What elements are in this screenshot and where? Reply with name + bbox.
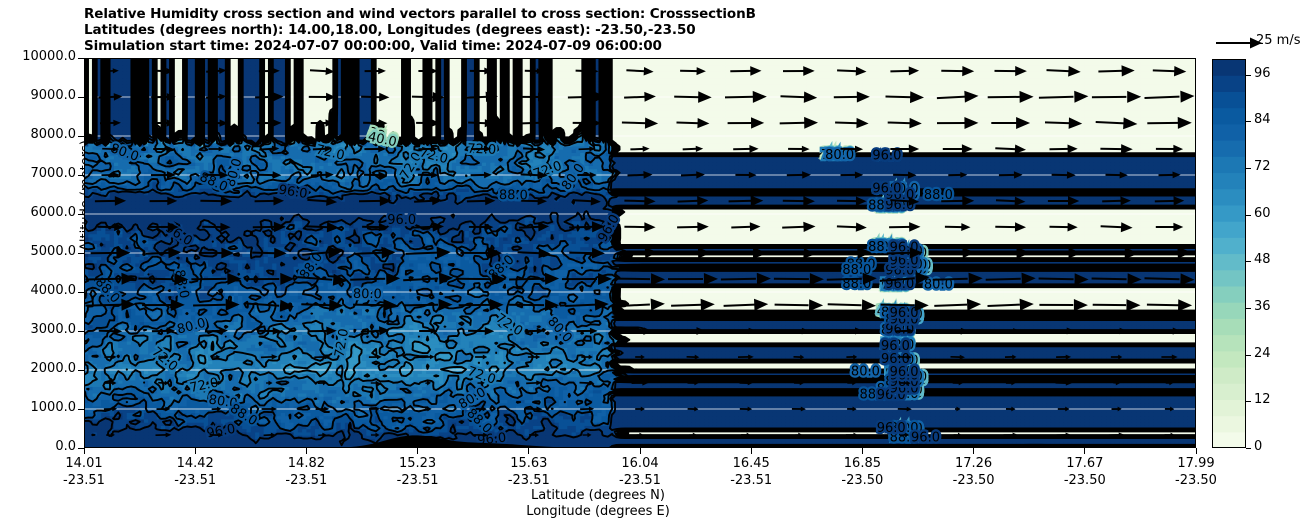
plot-area: 24.024.024.024.024.024.024.024.024.024.0…	[84, 58, 1196, 448]
y-tick-label: 3000.0	[31, 322, 77, 337]
x-tick-label-latitude: 15.23	[373, 456, 463, 471]
y-tick-label: 8000.0	[31, 127, 77, 142]
x-tick	[751, 448, 752, 454]
x-tick	[1196, 448, 1197, 454]
x-tick-label-latitude: 17.99	[1151, 456, 1241, 471]
colorbar-tick-label: 24	[1254, 346, 1271, 361]
x-tick	[1084, 448, 1085, 454]
colorbar-tick-label: 96	[1254, 66, 1271, 81]
chart-title-line3: Simulation start time: 2024-07-07 00:00:…	[84, 38, 662, 54]
chart-title-line2: Latitudes (degrees north): 14.00,18.00, …	[84, 22, 696, 38]
x-tick-label-latitude: 14.82	[261, 456, 351, 471]
y-tick-label: 0.0	[55, 439, 76, 454]
x-tick-label-longitude: -23.50	[1151, 473, 1241, 488]
y-tick-label: 4000.0	[31, 283, 77, 298]
x-tick	[862, 448, 863, 454]
x-tick-label-latitude: 15.63	[484, 456, 574, 471]
y-tick-label: 7000.0	[31, 166, 77, 181]
colorbar-tick-label: 48	[1254, 252, 1271, 267]
x-tick-label-latitude: 14.01	[39, 456, 129, 471]
y-tick-label: 2000.0	[31, 361, 77, 376]
x-tick-label-latitude: 17.67	[1040, 456, 1130, 471]
colorbar-tick	[1246, 168, 1251, 169]
colorbar	[1212, 59, 1246, 448]
x-tick	[640, 448, 641, 454]
x-tick-label-latitude: 17.26	[929, 456, 1019, 471]
x-tick-label-latitude: 16.45	[706, 456, 796, 471]
colorbar-tick	[1246, 355, 1251, 356]
colorbar-tick	[1246, 261, 1251, 262]
colorbar-frame	[1212, 59, 1246, 448]
x-tick-label-latitude: 16.04	[595, 456, 685, 471]
x-tick-label-longitude: -23.51	[595, 473, 685, 488]
colorbar-tick-label: 12	[1254, 392, 1271, 407]
x-tick	[417, 448, 418, 454]
x-tick	[973, 448, 974, 454]
x-axis-title-longitude: Longitude (degrees E)	[0, 504, 1196, 519]
x-tick-label-latitude: 16.85	[817, 456, 907, 471]
x-tick-label-longitude: -23.51	[261, 473, 351, 488]
x-tick-label-longitude: -23.50	[929, 473, 1019, 488]
colorbar-tick	[1246, 401, 1251, 402]
colorbar-tick-label: 84	[1254, 112, 1271, 127]
x-tick-label-longitude: -23.51	[150, 473, 240, 488]
colorbar-tick-label: 60	[1254, 206, 1271, 221]
colorbar-tick	[1246, 75, 1251, 76]
colorbar-tick	[1246, 448, 1251, 449]
x-tick-label-latitude: 14.42	[150, 456, 240, 471]
x-tick-label-longitude: -23.51	[39, 473, 129, 488]
y-tick-label: 9000.0	[31, 88, 77, 103]
colorbar-tick	[1246, 308, 1251, 309]
x-axis-title-latitude: Latitude (degrees N)	[0, 488, 1196, 503]
x-tick	[195, 448, 196, 454]
y-tick-label: 5000.0	[31, 244, 77, 259]
x-tick-label-longitude: -23.50	[817, 473, 907, 488]
x-tick-label-longitude: -23.51	[373, 473, 463, 488]
y-tick-label: 6000.0	[31, 205, 77, 220]
x-tick-label-longitude: -23.51	[706, 473, 796, 488]
chart-title-line1: Relative Humidity cross section and wind…	[84, 6, 756, 22]
colorbar-tick	[1246, 121, 1251, 122]
x-tick-label-longitude: -23.51	[484, 473, 574, 488]
x-tick-label-longitude: -23.50	[1040, 473, 1130, 488]
colorbar-tick-label: 0	[1254, 439, 1262, 454]
wind-reference-label: 25 m/s	[1256, 33, 1301, 48]
colorbar-tick-label: 72	[1254, 159, 1271, 174]
y-tick-label: 1000.0	[31, 400, 77, 415]
x-tick	[306, 448, 307, 454]
x-tick	[84, 448, 85, 454]
rh-cross-section-svg: 24.024.024.024.024.024.024.024.024.024.0…	[84, 58, 1196, 448]
x-tick	[528, 448, 529, 454]
colorbar-tick-label: 36	[1254, 299, 1271, 314]
chart-figure: Relative Humidity cross section and wind…	[0, 0, 1304, 526]
y-tick-label: 10000.0	[22, 49, 76, 64]
colorbar-tick	[1246, 215, 1251, 216]
